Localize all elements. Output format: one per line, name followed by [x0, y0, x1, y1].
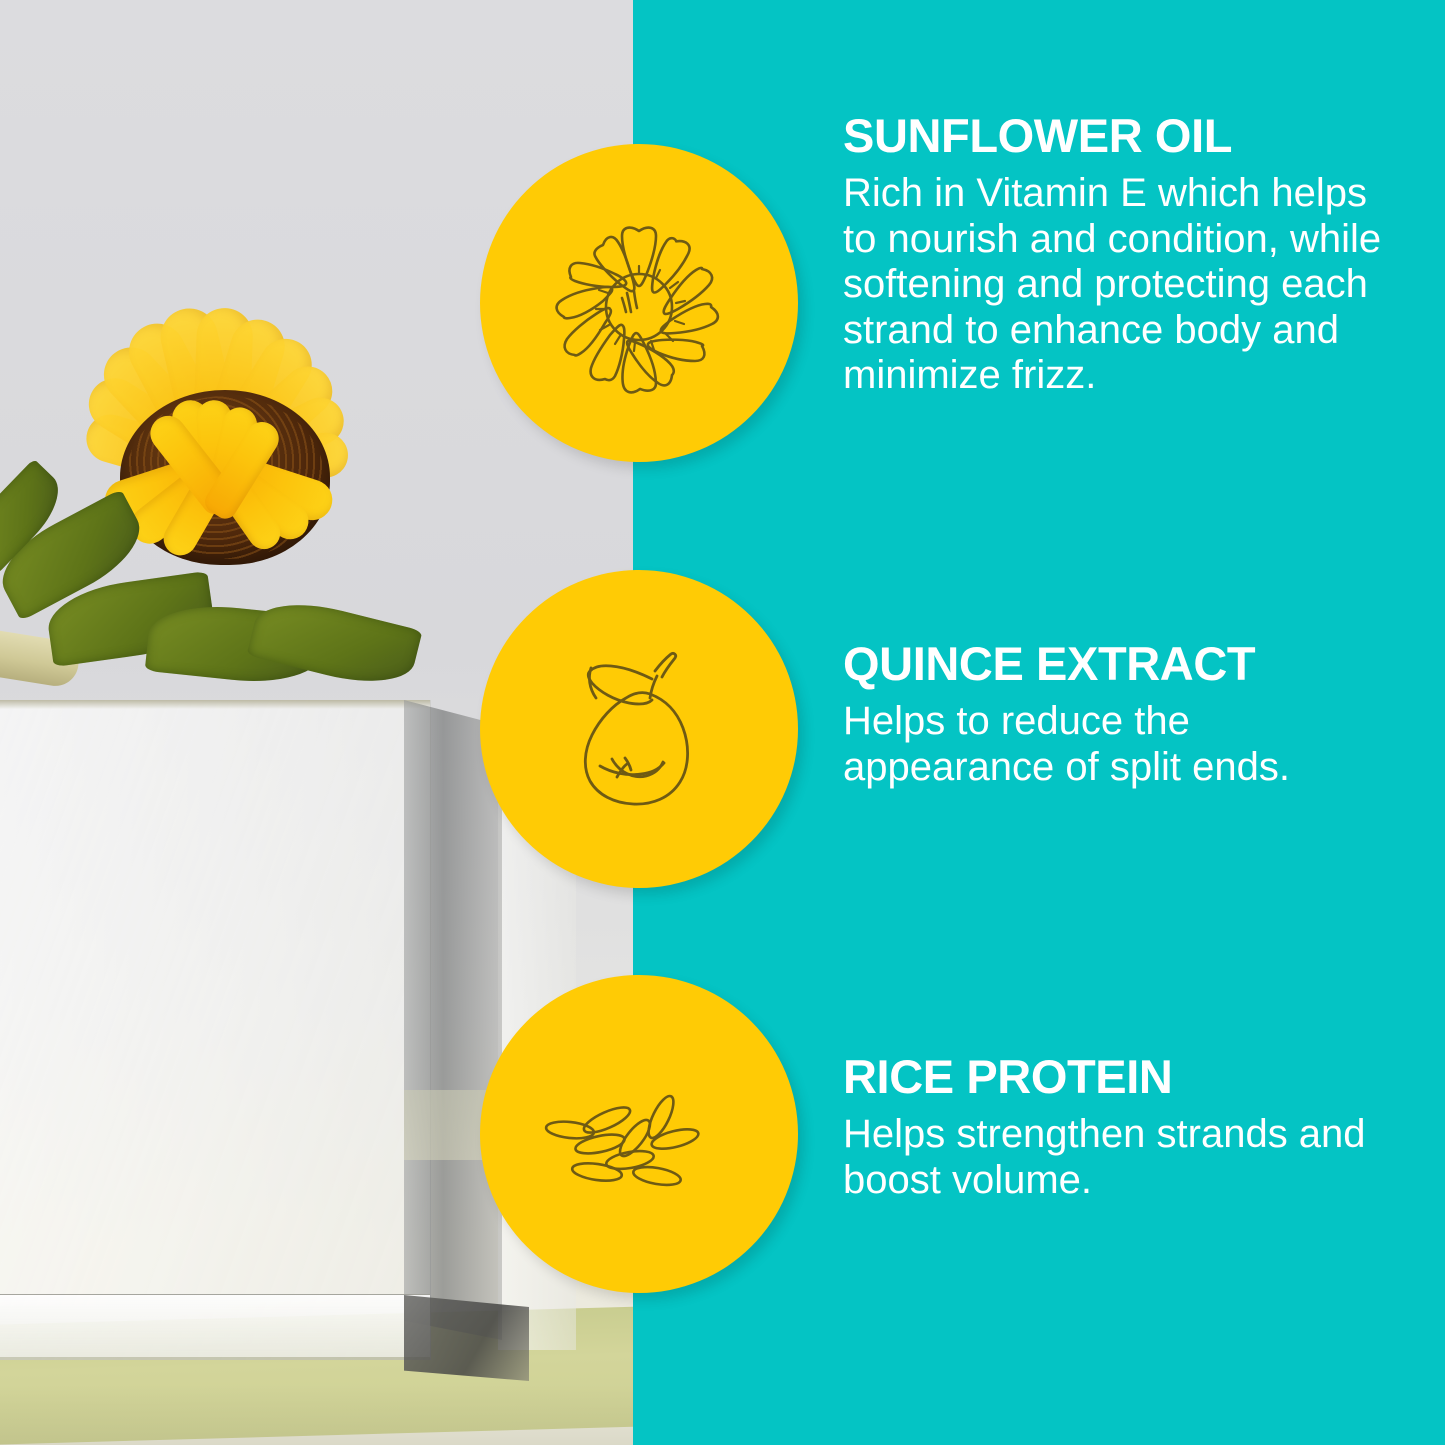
ingredient-icon-bubble-sunflower-oil	[480, 144, 798, 462]
ingredient-description: Rich in Vitamin E which helps to nourish…	[843, 171, 1403, 399]
ingredient-text-block-sunflower-oil: SUNFLOWER OIL Rich in Vitamin E which he…	[843, 112, 1403, 399]
flower-icon	[539, 203, 739, 403]
ingredient-description: Helps strengthen strands and boost volum…	[843, 1112, 1403, 1203]
ingredient-title: RICE PROTEIN	[843, 1053, 1403, 1100]
ingredient-text-block-quince-extract: QUINCE EXTRACT Helps to reduce the appea…	[843, 640, 1403, 790]
ingredient-icon-bubble-rice-protein	[480, 975, 798, 1293]
ingredient-description: Helps to reduce the appearance of split …	[843, 699, 1403, 790]
ingredient-title: SUNFLOWER OIL	[843, 112, 1403, 159]
acrylic-block-front-face	[0, 700, 431, 1360]
acrylic-block-base	[0, 1294, 430, 1357]
acrylic-block-base-shadow	[404, 1295, 529, 1381]
pear-icon	[539, 629, 739, 829]
ingredient-text-block-rice-protein: RICE PROTEIN Helps strengthen strands an…	[843, 1053, 1403, 1203]
surface-shadow	[0, 1385, 633, 1445]
infographic-canvas: SUNFLOWER OIL Rich in Vitamin E which he…	[0, 0, 1445, 1445]
rice-grains-icon	[539, 1034, 739, 1234]
ingredient-icon-bubble-quince-extract	[480, 570, 798, 888]
sunflower-photo-subject	[0, 190, 540, 750]
acrylic-block-side-face	[404, 700, 502, 1340]
ingredient-title: QUINCE EXTRACT	[843, 640, 1403, 687]
